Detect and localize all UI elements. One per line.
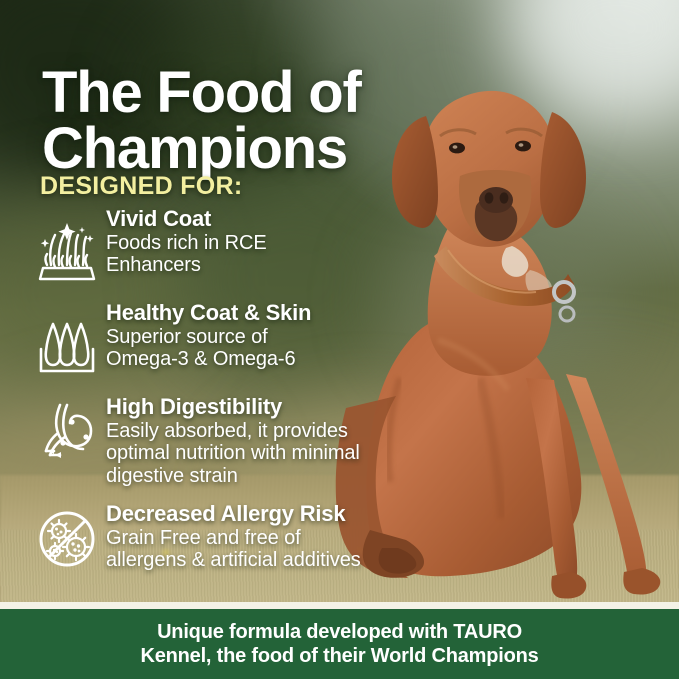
- feature-text: Vivid Coat Foods rich in RCE Enhancers: [106, 205, 267, 277]
- section-label: DESIGNED FOR:: [40, 172, 243, 201]
- feature-desc-line: Enhancers: [106, 254, 267, 277]
- sparkling-fur-strands-icon: [28, 205, 106, 287]
- divider: [0, 602, 679, 609]
- feature-desc-line: Foods rich in RCE: [106, 232, 267, 255]
- hair-follicles-skin-icon: [28, 299, 106, 381]
- footer-text: Unique formula developed with TAURO Kenn…: [70, 620, 608, 669]
- feature-desc-line: allergens & artificial additives: [106, 549, 361, 572]
- feature-title: Decreased Allergy Risk: [106, 502, 361, 527]
- feature-title: Vivid Coat: [106, 207, 267, 232]
- product-feature-card: The Food of Champions DESIGNED FOR:: [0, 0, 679, 679]
- list-item: High Digestibility Easily absorbed, it p…: [28, 393, 448, 488]
- footer-line-2: Kennel, the food of their World Champion…: [140, 644, 538, 668]
- feature-desc-line: Omega-3 & Omega-6: [106, 348, 311, 371]
- feature-desc-line: digestive strain: [106, 465, 360, 488]
- stomach-digestion-flow-icon: [28, 393, 106, 471]
- feature-title: Healthy Coat & Skin: [106, 301, 311, 326]
- feature-list: Vivid Coat Foods rich in RCE Enhancers H: [28, 205, 448, 584]
- feature-desc-line: optimal nutrition with minimal: [106, 442, 360, 465]
- list-item: Healthy Coat & Skin Superior source of O…: [28, 299, 448, 381]
- feature-text: Decreased Allergy Risk Grain Free and fr…: [106, 500, 361, 572]
- page-title: The Food of Champions: [42, 65, 472, 176]
- list-item: Vivid Coat Foods rich in RCE Enhancers: [28, 205, 448, 287]
- headline-line-2: Champions: [42, 121, 472, 177]
- no-allergens-prohibition-icon: [28, 500, 106, 578]
- feature-desc-line: Easily absorbed, it provides: [106, 420, 360, 443]
- feature-text: Healthy Coat & Skin Superior source of O…: [106, 299, 311, 371]
- footer-banner: Unique formula developed with TAURO Kenn…: [0, 609, 679, 679]
- feature-text: High Digestibility Easily absorbed, it p…: [106, 393, 360, 488]
- list-item: Decreased Allergy Risk Grain Free and fr…: [28, 500, 448, 578]
- feature-desc-line: Grain Free and free of: [106, 527, 361, 550]
- footer-line-1: Unique formula developed with TAURO: [140, 620, 538, 644]
- feature-title: High Digestibility: [106, 395, 360, 420]
- feature-desc-line: Superior source of: [106, 326, 311, 349]
